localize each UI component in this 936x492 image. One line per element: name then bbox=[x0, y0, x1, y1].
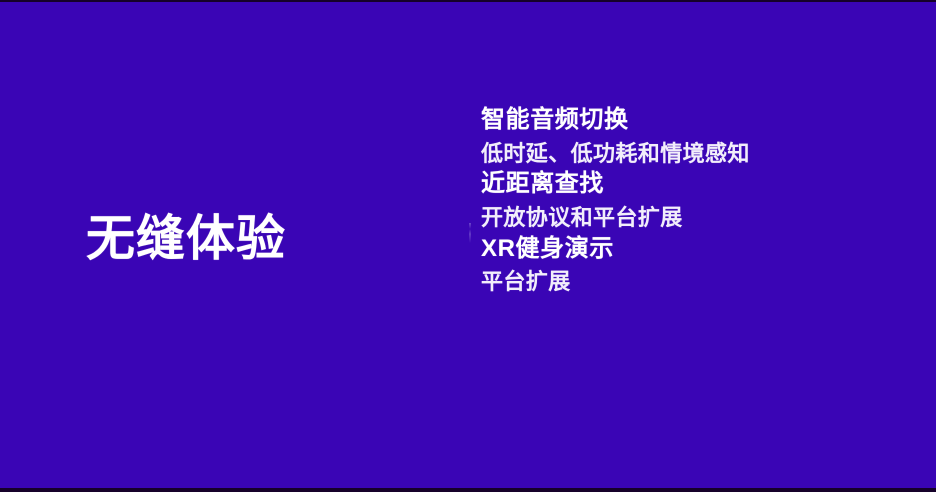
top-letterbox-strip bbox=[0, 0, 936, 2]
feature-subtitle: 低时延、低功耗和情境感知 bbox=[481, 140, 901, 169]
feature-item: XR健身演示 平台扩展 bbox=[481, 233, 901, 297]
page-title: 无缝体验 bbox=[86, 214, 416, 265]
feature-heading: 智能音频切换 bbox=[481, 104, 901, 136]
feature-item: 智能音频切换 低时延、低功耗和情境感知 bbox=[481, 104, 901, 168]
presentation-slide: 无缝体验 智能音频切换 低时延、低功耗和情境感知 近距离查找 开放协议和平台扩展… bbox=[0, 0, 936, 492]
vertical-streak-artifact bbox=[469, 223, 471, 243]
bottom-letterbox-strip bbox=[0, 488, 936, 492]
slide-title-block: 无缝体验 bbox=[86, 214, 416, 265]
feature-subtitle: 平台扩展 bbox=[481, 268, 901, 297]
feature-item: 近距离查找 开放协议和平台扩展 bbox=[481, 168, 901, 232]
feature-heading: XR健身演示 bbox=[481, 233, 901, 265]
feature-subtitle: 开放协议和平台扩展 bbox=[481, 204, 901, 233]
feature-list: 智能音频切换 低时延、低功耗和情境感知 近距离查找 开放协议和平台扩展 XR健身… bbox=[481, 104, 901, 297]
feature-heading: 近距离查找 bbox=[481, 168, 901, 200]
